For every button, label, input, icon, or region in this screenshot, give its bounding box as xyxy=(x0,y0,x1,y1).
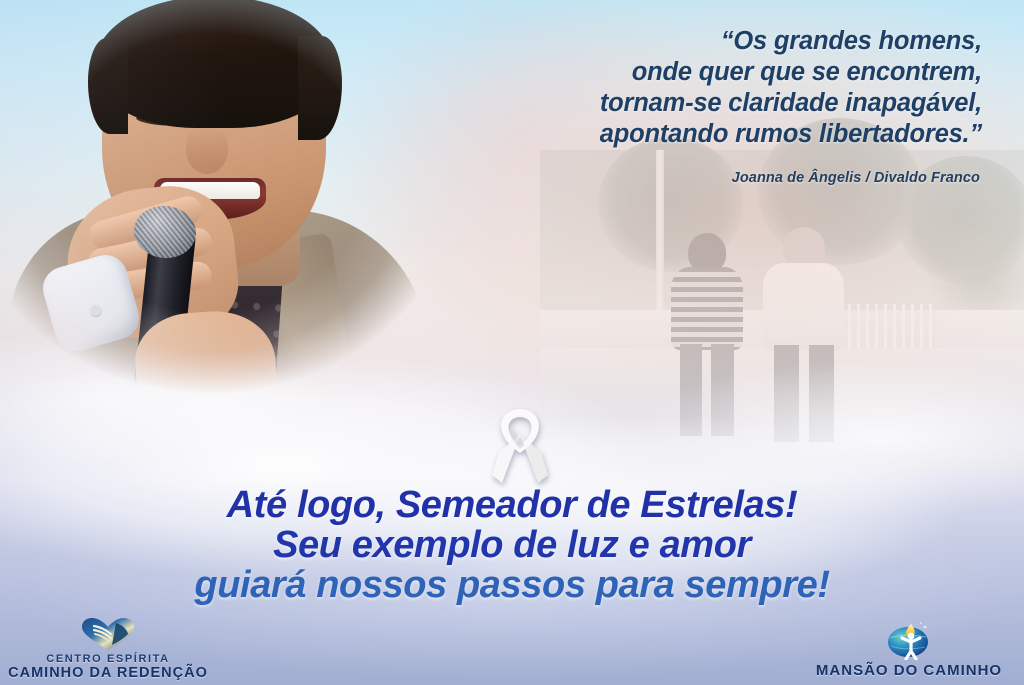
quote-line-1: “Os grandes homens, xyxy=(412,26,982,57)
logo-centro-espirita[interactable]: CENTRO ESPÍRITA CAMINHO DA REDENÇÃO xyxy=(8,617,208,681)
globe-with-figure-and-flame-icon xyxy=(885,618,933,660)
logo-right-line-1: MANSÃO DO CAMINHO xyxy=(804,662,1014,679)
logo-mansao-do-caminho[interactable]: MANSÃO DO CAMINHO xyxy=(804,618,1014,679)
quote-text: “Os grandes homens, onde quer que se enc… xyxy=(412,26,982,150)
white-mourning-ribbon-icon xyxy=(489,405,551,487)
headline-line-2: Seu exemplo de luz e amor xyxy=(0,525,1024,565)
quote-line-2: onde quer que se encontrem, xyxy=(412,57,982,88)
quote-line-4: apontando rumos libertadores.” xyxy=(412,119,982,150)
headline-text: Até logo, Semeador de Estrelas! Seu exem… xyxy=(0,485,1024,605)
logo-left-line-2: CAMINHO DA REDENÇÃO xyxy=(8,665,208,681)
clasped-hands-heart-icon xyxy=(80,617,136,651)
quote-line-3: tornam-se claridade inapagável, xyxy=(412,88,982,119)
quote-attribution: Joanna de Ângelis / Divaldo Franco xyxy=(460,170,980,186)
headline-line-1: Até logo, Semeador de Estrelas! xyxy=(0,485,1024,525)
headline-line-3: guiará nossos passos para sempre! xyxy=(0,565,1024,605)
logo-left-line-1: CENTRO ESPÍRITA xyxy=(8,653,208,665)
memorial-poster: “Os grandes homens, onde quer que se enc… xyxy=(0,0,1024,685)
